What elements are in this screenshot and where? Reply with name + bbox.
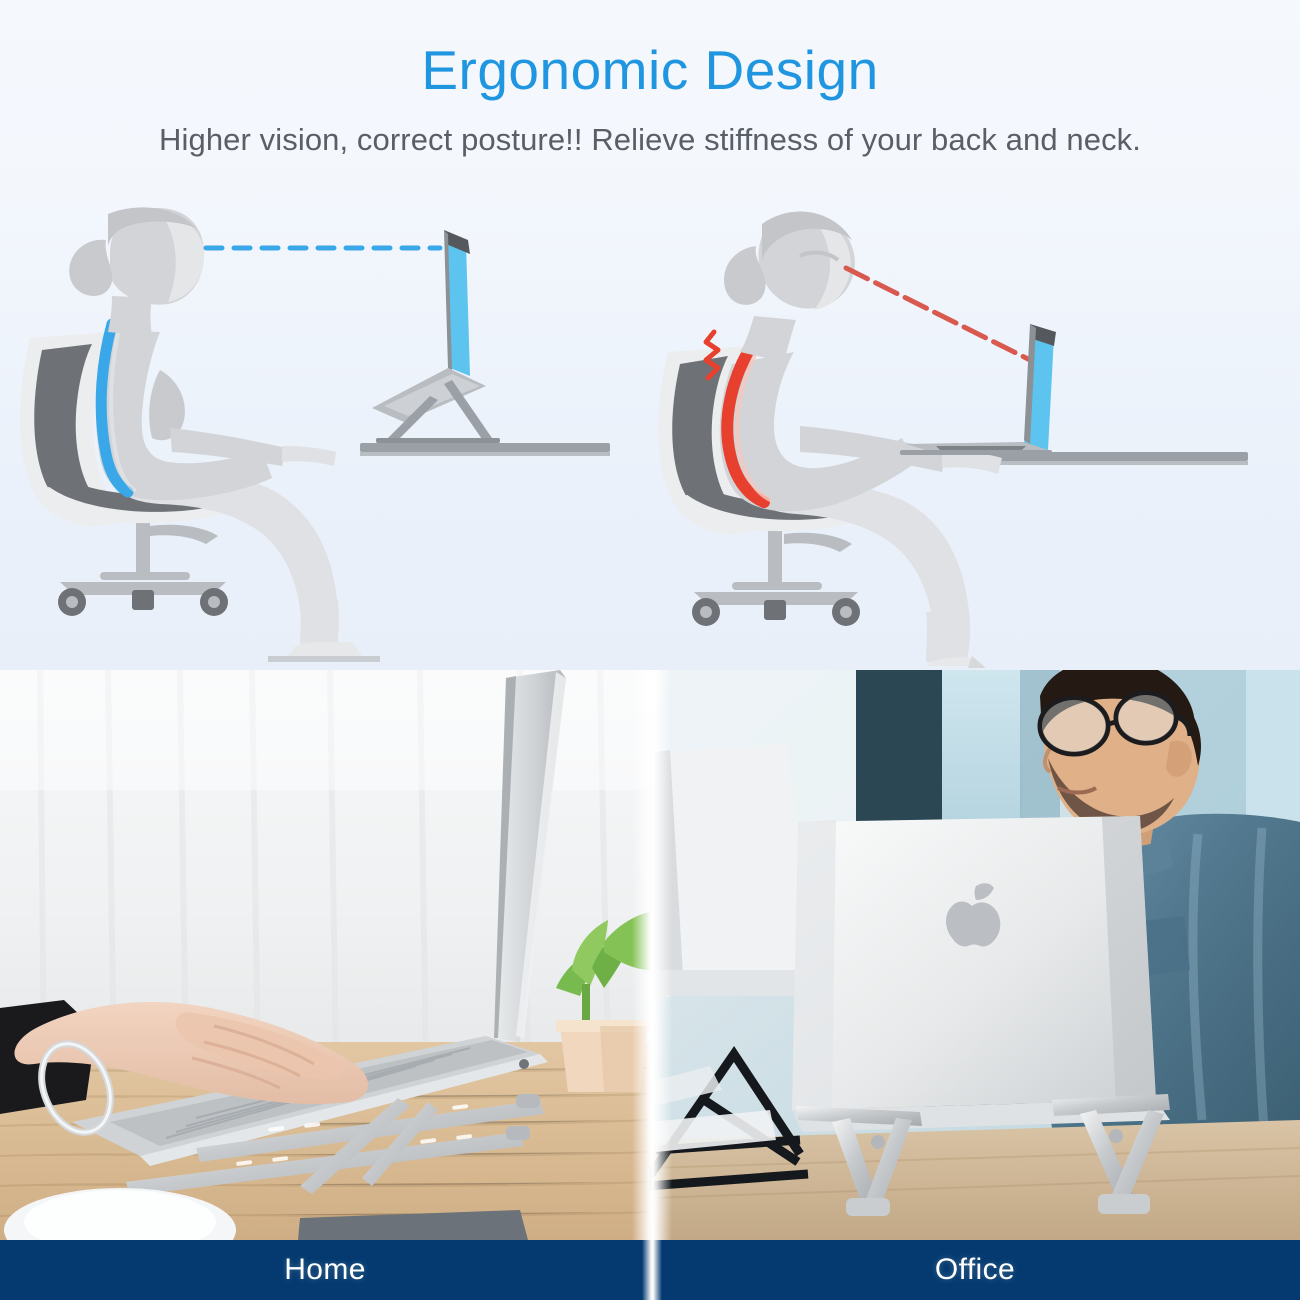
posture-illustration-band: [0, 200, 1300, 670]
stand-rail: [376, 438, 500, 443]
page-title: Ergonomic Design: [0, 0, 1300, 100]
laptop-flat-on-desk: [900, 324, 1056, 455]
desk-surface: [360, 443, 610, 452]
good-posture-figure: [20, 207, 610, 662]
photo-band: [0, 670, 1300, 1240]
correct-posture-diagram: [0, 200, 650, 670]
page-header: Ergonomic Design Higher vision, correct …: [0, 0, 1300, 200]
laptop-on-stand: [372, 230, 500, 444]
stand-foot-left: [846, 1198, 890, 1216]
hand: [282, 446, 336, 466]
banner-half-home: Home: [0, 1240, 650, 1300]
office-label: Office: [935, 1253, 1015, 1287]
office-scene-photo: [650, 670, 1300, 1240]
stand-foot-right: [1098, 1194, 1150, 1214]
home-scene-photo: [0, 670, 650, 1240]
product-feature-page: Ergonomic Design Higher vision, correct …: [0, 0, 1300, 1300]
incorrect-posture-diagram: [650, 200, 1300, 670]
ponytail: [69, 240, 112, 296]
scene-label-banner: Home Office: [0, 1240, 1300, 1300]
bad-posture-figure: [658, 211, 1248, 668]
home-label: Home: [284, 1253, 366, 1287]
macbook-lid: [792, 816, 1156, 1110]
downward-sightline: [846, 268, 1038, 364]
banner-half-office: Office: [650, 1240, 1300, 1300]
shoe: [286, 642, 362, 656]
footrest: [268, 656, 380, 662]
laptop-port: [519, 1059, 529, 1069]
page-subtitle: Higher vision, correct posture!! Relieve…: [0, 100, 1300, 158]
